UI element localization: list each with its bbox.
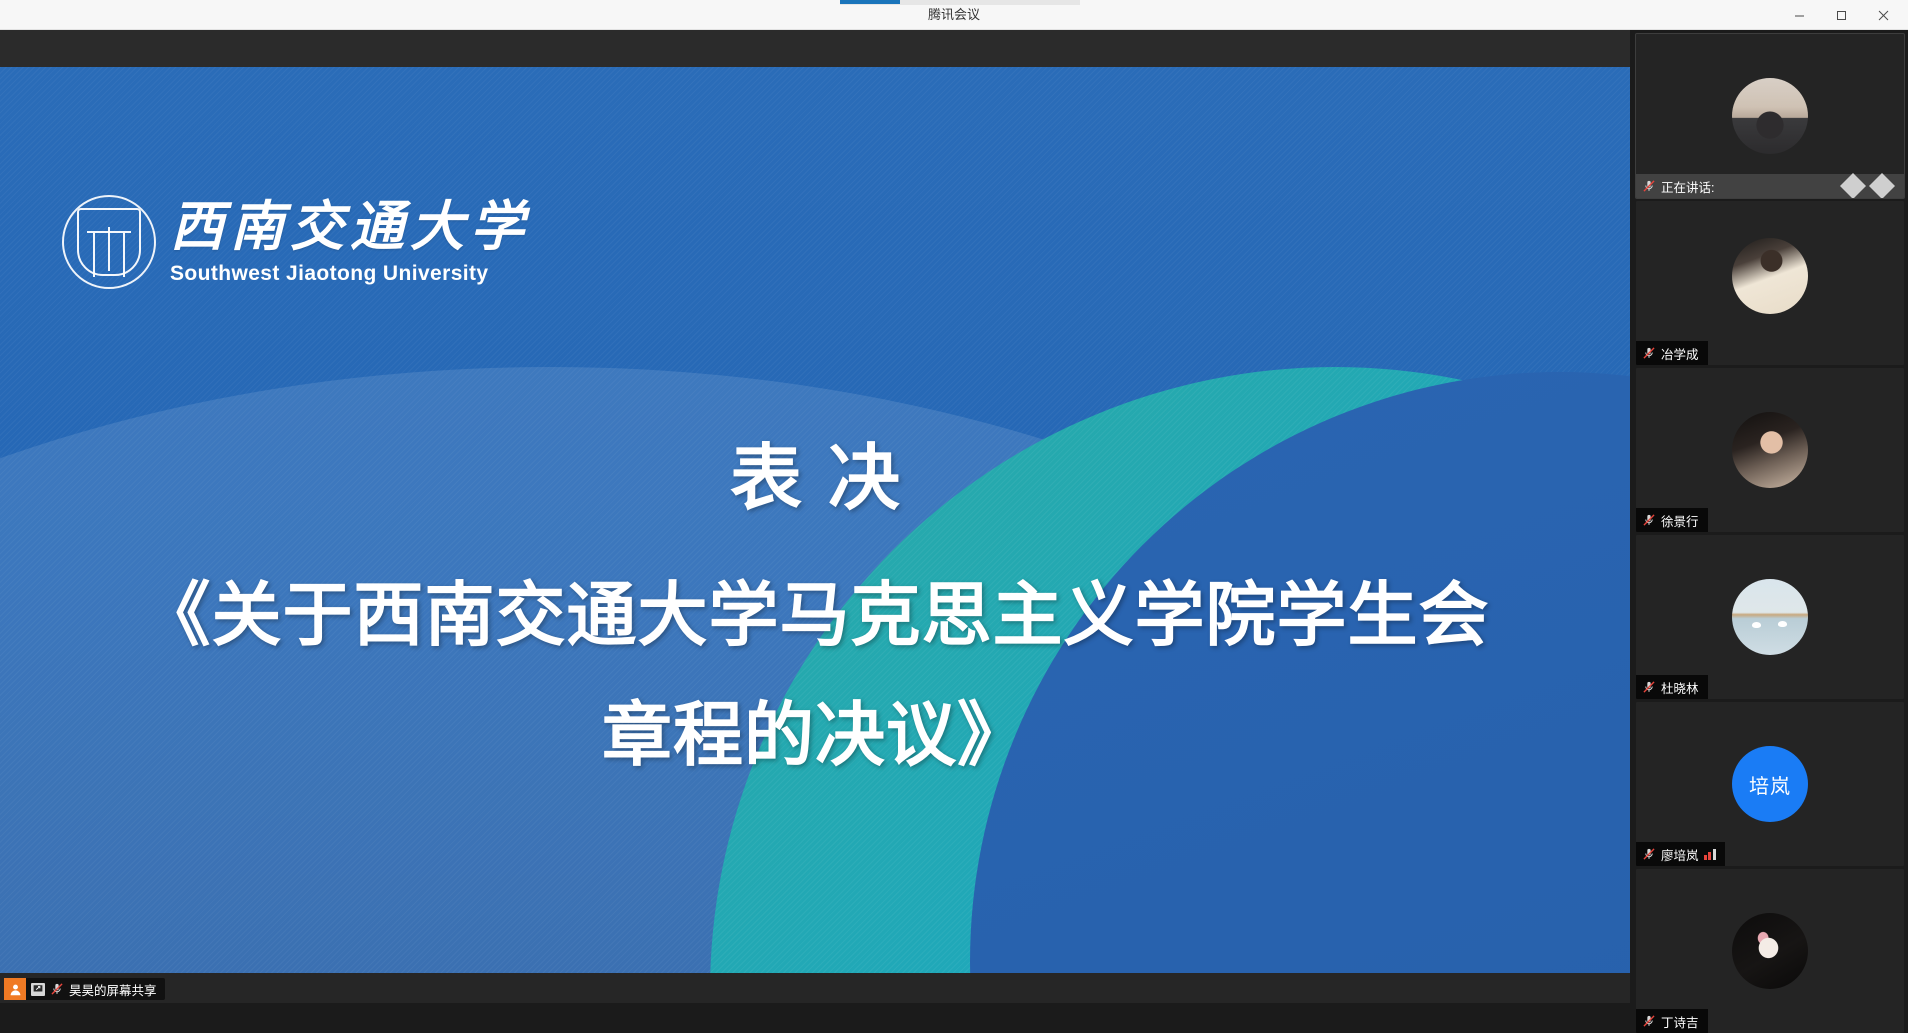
close-icon [1878, 10, 1889, 21]
participant-tile[interactable]: 正在讲话: [1636, 34, 1904, 198]
presentation-slide: 西南交通大学 Southwest Jiaotong University 表决 … [0, 67, 1630, 992]
app-root: 腾讯会议 西南交通大学 [0, 0, 1908, 1033]
screen-share-icon-box [31, 983, 45, 996]
participant-tile[interactable]: 冶学成 [1636, 201, 1904, 365]
avatar: 培岚 [1732, 746, 1808, 822]
share-status-label: 昊昊的屏幕共享 [69, 980, 157, 999]
avatar [1732, 238, 1808, 314]
microphone-muted-icon [50, 982, 64, 996]
avatar-initials: 培岚 [1749, 770, 1791, 799]
slide-body-text: 《关于西南交通大学马克思主义学院学生会 章程的决议》 [0, 557, 1630, 798]
participant-name: 杜晓林 [1661, 678, 1699, 697]
microphone-muted-icon [1642, 1014, 1656, 1028]
slide-body-line-2: 章程的决议》 [0, 677, 1630, 797]
minimize-button[interactable] [1778, 0, 1820, 30]
slide-body-line-1: 《关于西南交通大学马克思主义学院学生会 [0, 557, 1630, 677]
participant-name-bar: 冶学成 [1636, 341, 1708, 365]
participant-name-bar: 廖培岚 [1636, 842, 1725, 866]
person-icon [9, 983, 22, 996]
university-crest-icon [62, 195, 156, 289]
participant-name-bar: 杜晓林 [1636, 675, 1708, 699]
minimize-icon [1794, 10, 1805, 21]
university-name-block: 西南交通大学 Southwest Jiaotong University [170, 200, 530, 284]
avatar [1732, 412, 1808, 488]
screen-share-stage: 西南交通大学 Southwest Jiaotong University 表决 … [0, 30, 1630, 1003]
maximize-button[interactable] [1820, 0, 1862, 30]
participant-name: 廖培岚 [1661, 845, 1699, 864]
participant-tile[interactable]: 徐景行 [1636, 368, 1904, 532]
microphone-muted-icon [1642, 513, 1656, 527]
maximize-icon [1836, 10, 1847, 21]
participant-name: 丁诗吉 [1661, 1012, 1699, 1031]
participant-name: 徐景行 [1661, 511, 1699, 530]
participant-name: 冶学成 [1661, 344, 1699, 363]
share-status-bar: 昊昊的屏幕共享 [0, 973, 1630, 1003]
screen-share-icon [33, 984, 43, 994]
avatar [1732, 913, 1808, 989]
university-name-cn: 西南交通大学 [170, 200, 530, 254]
window-title-bar: 腾讯会议 [0, 0, 1908, 30]
avatar [1732, 579, 1808, 655]
participant-name-bar: 正在讲话: [1636, 174, 1904, 198]
microphone-muted-icon [1642, 847, 1656, 861]
participant-name: 正在讲话: [1661, 177, 1714, 196]
crest-arc [87, 231, 131, 233]
share-status-pill[interactable]: 昊昊的屏幕共享 [4, 978, 165, 1000]
microphone-muted-icon [1642, 680, 1656, 694]
participant-tile[interactable]: 丁诗吉 [1636, 869, 1904, 1033]
speaking-indicator [1840, 173, 1895, 198]
slide-heading: 表决 [0, 419, 1630, 524]
avatar [1732, 78, 1808, 154]
participant-sidebar[interactable]: 正在讲话: 冶学成 [1630, 30, 1908, 1033]
university-logo: 西南交通大学 Southwest Jiaotong University [62, 195, 530, 289]
presenter-avatar [4, 978, 26, 1000]
participant-name-bar: 丁诗吉 [1636, 1009, 1708, 1033]
participant-tile[interactable]: 杜晓林 [1636, 535, 1904, 699]
close-button[interactable] [1862, 0, 1904, 30]
university-name-en: Southwest Jiaotong University [170, 263, 530, 284]
participant-name-bar: 徐景行 [1636, 508, 1708, 532]
microphone-muted-icon [1642, 346, 1656, 360]
window-title: 腾讯会议 [0, 0, 1908, 30]
window-controls [1778, 0, 1904, 30]
network-signal-icon [1704, 849, 1716, 860]
participant-tile[interactable]: 培岚 廖培岚 [1636, 702, 1904, 866]
microphone-muted-icon [1642, 179, 1656, 193]
